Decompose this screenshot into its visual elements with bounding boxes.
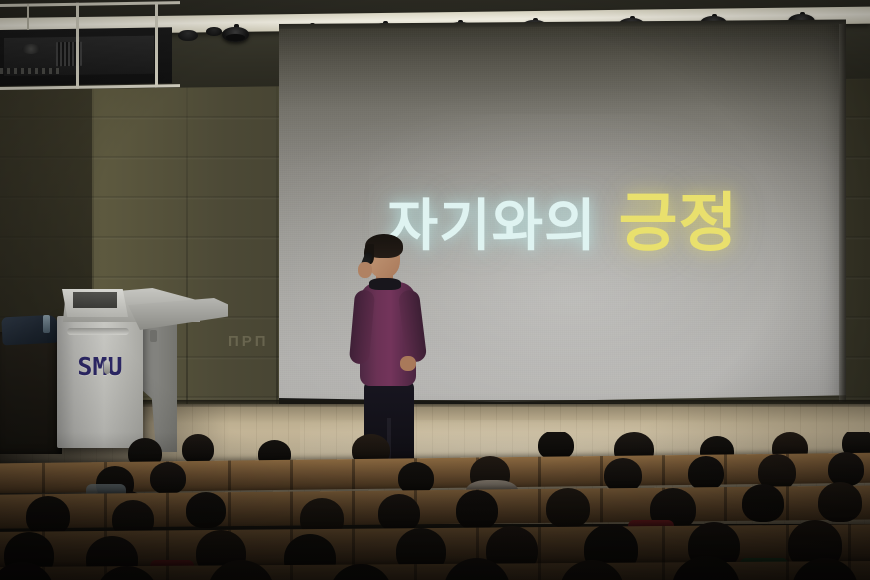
podium-handle: [67, 328, 129, 335]
ceiling-dome-fixture: [206, 27, 222, 36]
podium-logo: SMU: [57, 352, 143, 381]
mount-hanger-rod: [27, 4, 29, 30]
podium-bracket: [150, 330, 157, 342]
speaker-collar: [369, 278, 401, 290]
lectern: SMU: [57, 316, 143, 448]
audience-head: [186, 492, 226, 528]
podium-knob[interactable]: [104, 360, 110, 374]
audience-head: [818, 482, 862, 522]
coat-on-cabinet: [1, 315, 58, 346]
audience-head: [742, 484, 784, 522]
ceiling-dome-fixture: [178, 30, 198, 41]
slide-text-accent: 긍정: [619, 187, 739, 261]
audience-head: [604, 458, 642, 492]
audience-head: [688, 456, 724, 490]
audience-head: [150, 462, 186, 494]
audience-head: [456, 490, 498, 530]
ceiling-spotlight-icon: [222, 27, 249, 42]
audience-head: [182, 434, 214, 464]
audience-head: [26, 496, 70, 536]
lecture-hall-photo: ПРП 자기와의긍정: [0, 0, 870, 580]
audience-head: [828, 452, 864, 486]
speaker-hand-left: [358, 262, 372, 278]
podium-monitor-screen[interactable]: [73, 292, 117, 308]
audience-area: [0, 432, 870, 580]
frame-post: [76, 3, 79, 89]
frame-post: [155, 2, 158, 88]
audience-head: [546, 488, 590, 528]
audience-head: [378, 494, 420, 532]
water-bottle: [43, 315, 50, 333]
speaker-hand-right: [400, 356, 416, 371]
